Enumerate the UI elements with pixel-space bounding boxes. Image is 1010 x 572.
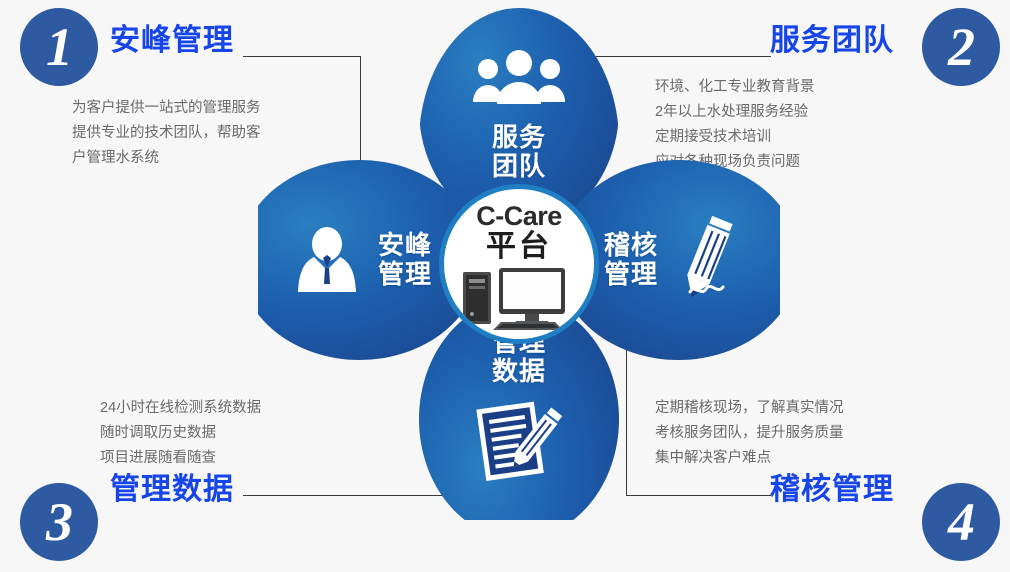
petal-diagram: 服务 团队 安峰 管理 (258, 8, 780, 520)
petal-audit-management-label: 稽核 管理 (604, 231, 658, 289)
center-hub[interactable]: C-Care 平台 (439, 184, 599, 344)
section-body-3-line-3: 项目进展随看随查 (100, 446, 261, 471)
section-title-4: 稽核管理 (770, 475, 894, 505)
infographic-canvas: 1 2 3 4 安峰管理 服务团队 管理数据 稽核管理 为客户提供一站式的管理服… (0, 0, 1010, 572)
section-body-1-line-3: 户管理水系统 (72, 146, 261, 171)
pencil-icon (674, 212, 746, 308)
section-body-1-line-2: 提供专业的技术团队，帮助客 (72, 121, 261, 146)
section-number-badge-1: 1 (20, 8, 98, 86)
section-body-3-line-2: 随时调取历史数据 (100, 421, 261, 446)
section-body-3: 24小时在线检测系统数据 随时调取历史数据 项目进展随看随查 (100, 396, 261, 471)
section-number-2: 2 (948, 20, 974, 74)
section-title-3: 管理数据 (110, 475, 234, 505)
clipboard-pencil-icon (473, 398, 565, 482)
people-group-icon (471, 50, 567, 106)
section-title-1: 安峰管理 (110, 26, 234, 56)
section-number-4: 4 (948, 495, 974, 549)
hub-subtitle-label: 平台 (486, 231, 552, 263)
section-body-1-line-1: 为客户提供一站式的管理服务 (72, 96, 261, 121)
section-number-3: 3 (46, 495, 72, 549)
hub-brand-label: C-Care (476, 203, 562, 230)
petal-anfeng-management-label: 安峰 管理 (378, 231, 432, 289)
section-title-2: 服务团队 (770, 26, 894, 56)
section-number-badge-4: 4 (922, 483, 1000, 561)
petal-service-team-label: 服务 团队 (492, 123, 546, 181)
section-number-badge-3: 3 (20, 483, 98, 561)
section-body-1: 为客户提供一站式的管理服务 提供专业的技术团队，帮助客 户管理水系统 (72, 96, 261, 171)
section-number-badge-2: 2 (922, 8, 1000, 86)
businessman-icon (296, 226, 358, 294)
section-number-1: 1 (46, 20, 72, 74)
desktop-computer-icon (459, 264, 579, 336)
section-body-3-line-1: 24小时在线检测系统数据 (100, 396, 261, 421)
